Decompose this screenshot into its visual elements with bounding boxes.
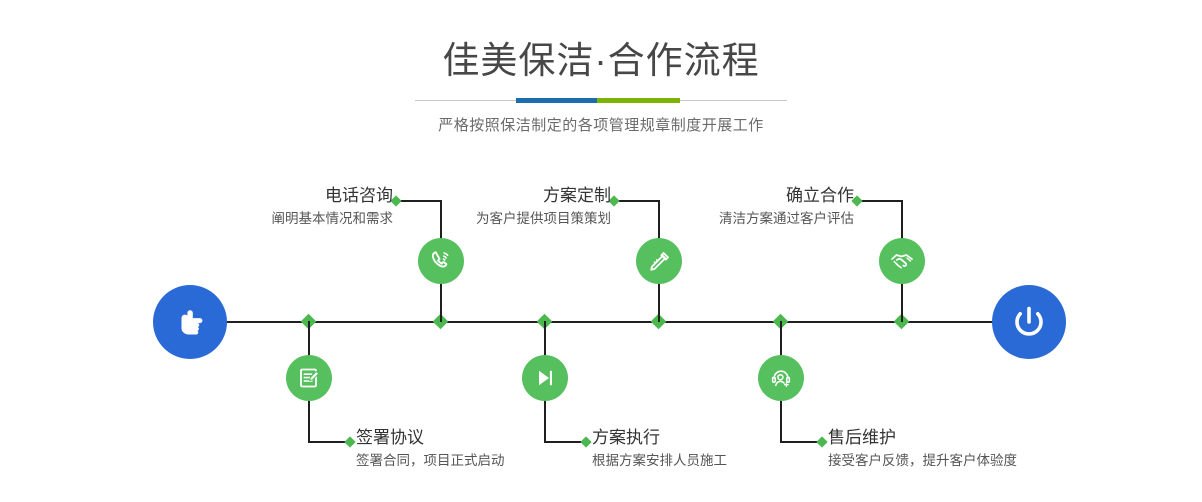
step-2-tip-marker: [344, 436, 355, 447]
step-1-desc: 阐明基本情况和需求: [272, 209, 394, 229]
step-4-desc: 根据方案安排人员施工: [592, 451, 727, 471]
pointing-hand-icon: [170, 302, 210, 342]
step-2-icon-badge[interactable]: [286, 355, 332, 401]
step-6-desc: 接受客户反馈，提升客户体验度: [828, 451, 1017, 471]
step-1-icon-badge[interactable]: [418, 238, 464, 284]
step-1-hline: [399, 200, 441, 202]
step-3-desc: 为客户提供项目策策划: [476, 209, 611, 229]
process-timeline: 电话咨询 阐明基本情况和需求 签署协议 签署合同，项目正式启动: [0, 0, 1202, 502]
timeline-axis: [222, 321, 1000, 323]
phone-call-icon: [427, 247, 455, 275]
step-4-tip-marker: [580, 436, 591, 447]
step-4-label: 方案执行 根据方案安排人员施工: [592, 427, 727, 471]
step-5-desc: 清洁方案通过客户评估: [719, 209, 854, 229]
handshake-icon: [888, 247, 916, 275]
step-5-hline: [860, 200, 902, 202]
power-icon: [1007, 300, 1051, 344]
step-6-label: 售后维护 接受客户反馈，提升客户体验度: [828, 427, 1017, 471]
step-1-title: 电话咨询: [272, 185, 394, 207]
step-2-desc: 签署合同，项目正式启动: [356, 451, 505, 471]
headset-support-icon: [768, 365, 794, 391]
step-4-title: 方案执行: [592, 427, 727, 449]
cooperation-process-infographic: 佳美保洁·合作流程 严格按照保洁制定的各项管理规章制度开展工作: [0, 0, 1202, 502]
timeline-start-node: [153, 285, 227, 359]
step-6-title: 售后维护: [828, 427, 1017, 449]
step-6-icon-badge[interactable]: [758, 355, 804, 401]
step-3-label: 方案定制 为客户提供项目策策划: [476, 185, 611, 229]
timeline-end-node: [992, 285, 1066, 359]
step-1-label: 电话咨询 阐明基本情况和需求: [272, 185, 394, 229]
sign-document-icon: [296, 365, 322, 391]
step-5-title: 确立合作: [719, 185, 854, 207]
play-skip-icon: [532, 365, 558, 391]
step-3-title: 方案定制: [476, 185, 611, 207]
step-3-hline: [617, 200, 659, 202]
step-6-tip-marker: [816, 436, 827, 447]
step-5-label: 确立合作 清洁方案通过客户评估: [719, 185, 854, 229]
step-2-label: 签署协议 签署合同，项目正式启动: [356, 427, 505, 471]
pencil-ruler-icon: [646, 248, 673, 275]
step-4-icon-badge[interactable]: [522, 355, 568, 401]
step-3-icon-badge[interactable]: [636, 238, 682, 284]
step-2-title: 签署协议: [356, 427, 505, 449]
step-5-icon-badge[interactable]: [879, 238, 925, 284]
